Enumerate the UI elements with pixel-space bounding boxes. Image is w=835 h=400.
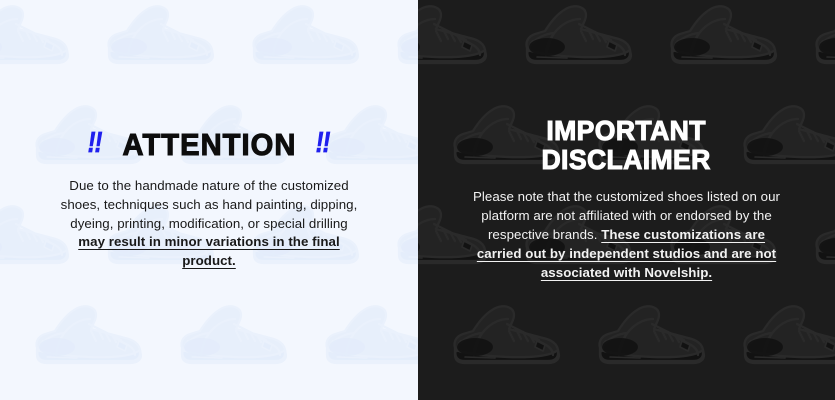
attention-panel: !! ATTENTION !! Due to the handmade natu… xyxy=(0,0,418,400)
attention-title: ATTENTION xyxy=(122,129,296,160)
attention-body-text: Due to the handmade nature of the custom… xyxy=(59,177,359,271)
attention-body-emphasis: may result in minor variations in the fi… xyxy=(78,234,340,268)
exclamation-marks-left-icon: !! xyxy=(88,129,102,158)
exclamation-marks-right-icon: !! xyxy=(316,129,330,158)
disclaimer-banner: !! ATTENTION !! Due to the handmade natu… xyxy=(0,0,835,400)
disclaimer-title-line-1: IMPORTANT xyxy=(542,117,711,146)
attention-heading: !! ATTENTION !! xyxy=(86,129,332,160)
attention-body-normal: Due to the handmade nature of the custom… xyxy=(61,178,358,231)
disclaimer-heading: IMPORTANT DISCLAIMER xyxy=(542,117,711,174)
disclaimer-panel: IMPORTANT DISCLAIMER Please note that th… xyxy=(418,0,835,400)
disclaimer-body-text: Please note that the customized shoes li… xyxy=(467,188,787,282)
disclaimer-title-line-2: DISCLAIMER xyxy=(542,146,711,175)
